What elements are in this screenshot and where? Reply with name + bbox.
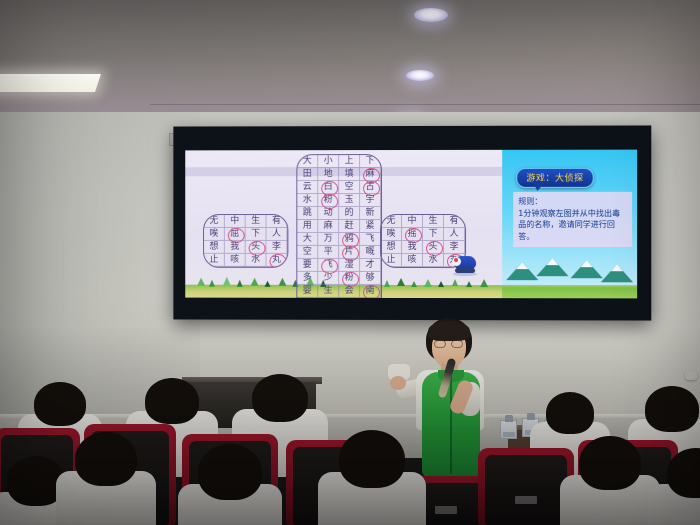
grid-cell: 无 — [381, 215, 402, 228]
grid-cell: 李 — [267, 241, 288, 254]
blue-cat-mascot-icon — [452, 254, 478, 276]
grid-cell: 想 — [204, 241, 225, 254]
mountain-2-snowcap — [546, 258, 558, 265]
grid-cell: 古 — [360, 181, 381, 194]
grid-cell: 平 — [318, 246, 339, 259]
rules-text: 1分钟观察左图并从中找出毒品的名称，邀请同学进行回答。 — [518, 208, 627, 243]
grid-cell: 生 — [246, 215, 267, 228]
grid-cell: 李 — [444, 241, 465, 254]
presenter-left-hand — [390, 376, 406, 390]
grid-cell: 紧 — [360, 220, 381, 233]
character-grid-vertical: 大小上下田地填麻云白空古水粉玉宇跳动的新用麻赶紧大万鸦飞空平片嘅要飞湿才多少粉够… — [296, 154, 382, 298]
grid-cell: 飞 — [360, 233, 381, 246]
grid-cell: 鸦 — [339, 233, 360, 246]
grid-cell: 水 — [297, 194, 318, 207]
grid-cell: 够 — [360, 272, 381, 285]
student-head — [339, 430, 405, 488]
grid-cell: 丸 — [267, 254, 288, 267]
panel-light-left-upper — [0, 74, 101, 92]
grid-cell: 麻 — [318, 220, 339, 233]
grid-cell: 地 — [318, 168, 339, 181]
grid-cell: 会 — [339, 285, 360, 298]
grid-cell: 嘅 — [360, 246, 381, 259]
grid-cell: 宇 — [360, 194, 381, 207]
slide-ground-right — [502, 287, 637, 298]
grid-cell: 水 — [423, 254, 444, 267]
grid-cell: 飞 — [318, 259, 339, 272]
grid-cell: 万 — [318, 233, 339, 246]
grid-cell: 用 — [297, 220, 318, 233]
grid-cell: 湿 — [339, 259, 360, 272]
grid-cell: 跳 — [297, 207, 318, 220]
grid-cell: 有 — [267, 215, 288, 228]
mascot-nose — [454, 258, 458, 262]
lecture-hall-photo: 无中生有唉屈下人想我头李止咳水丸 大小上下田地填麻云白空古水粉玉宇跳动的新用麻赶… — [0, 0, 700, 525]
grid-cell: 唉 — [381, 228, 402, 241]
ceiling-seam — [150, 104, 700, 105]
grid-cell: 田 — [297, 168, 318, 181]
grid-cell: 唉 — [204, 228, 225, 241]
student-head — [546, 392, 594, 434]
grid-cell: 空 — [297, 246, 318, 259]
grid-cell: 的 — [339, 207, 360, 220]
grid-cell: 人 — [267, 228, 288, 241]
grid-cell: 咳 — [225, 254, 246, 267]
student-head — [252, 374, 308, 422]
grid-cell: 小 — [318, 155, 339, 168]
grid-cell: 生 — [318, 285, 339, 298]
grid-cell: 水 — [246, 254, 267, 267]
grid-cell: 我 — [402, 241, 423, 254]
grid-cell: 生 — [423, 215, 444, 228]
mountain-3-snowcap — [581, 260, 593, 267]
grid-cell: 下 — [360, 155, 381, 168]
grid-cell: 咳 — [402, 254, 423, 267]
student-front-2 — [56, 432, 156, 525]
grid-cell: 止 — [381, 254, 402, 267]
rules-box: 规则： 1分钟观察左图并从中找出毒品的名称，邀请同学进行回答。 — [513, 192, 632, 248]
grid-cell: 大 — [297, 155, 318, 168]
grid-cell: 片 — [339, 246, 360, 259]
student-front-4 — [318, 430, 426, 525]
grid-cell: 下 — [423, 228, 444, 241]
grid-cell: 有 — [444, 215, 465, 228]
presentation-slide: 无中生有唉屈下人想我头李止咳水丸 大小上下田地填麻云白空古水粉玉宇跳动的新用麻赶… — [185, 150, 637, 299]
grid-cell: 粉 — [318, 194, 339, 207]
grid-cell: 新 — [360, 207, 381, 220]
seat-cushion — [485, 455, 567, 525]
character-grid-horizontal-left: 无中生有唉屈下人想我头李止咳水丸 — [203, 214, 288, 268]
presenter-glasses — [434, 340, 464, 348]
grid-cell: 空 — [339, 181, 360, 194]
callout-tail — [532, 181, 546, 191]
grid-cell: 下 — [246, 228, 267, 241]
student-head — [75, 432, 137, 486]
grid-cell: 想 — [381, 241, 402, 254]
grid-cell: 麻 — [360, 168, 381, 181]
grid-cell: 冰 — [318, 298, 339, 299]
mountain-4-snowcap — [611, 264, 623, 271]
student-head — [579, 436, 641, 490]
game-title-callout: 游戏：大侦探 — [516, 168, 594, 188]
grid-cell: 少 — [318, 272, 339, 285]
grid-cell: 动 — [318, 207, 339, 220]
seat-number-tag — [435, 506, 457, 514]
grid-cell: 才 — [360, 259, 381, 272]
grid-cell: 头 — [246, 241, 267, 254]
grid-cell: 你 — [339, 298, 360, 299]
student-front-3 — [178, 444, 282, 525]
grid-cell: 摇 — [402, 228, 423, 241]
grid-cell: 云 — [297, 181, 318, 194]
student-head — [145, 378, 199, 424]
grid-cell: 玉 — [339, 194, 360, 207]
grid-cell: 填 — [339, 168, 360, 181]
grid-cell: 粉 — [339, 272, 360, 285]
grid-cell: 要 — [297, 259, 318, 272]
student-front-5 — [560, 436, 660, 525]
grid-cell: 白 — [318, 181, 339, 194]
presenter-vest-zipper — [450, 376, 452, 474]
student-head — [198, 444, 262, 500]
grid-cell: 南 — [360, 285, 381, 298]
mountain-1-snowcap — [516, 262, 528, 269]
student-head — [667, 448, 700, 498]
student-head — [34, 382, 86, 426]
grid-cell: 我 — [225, 241, 246, 254]
grid-cell: 无 — [204, 215, 225, 228]
grid-cell: 住 — [297, 298, 318, 299]
grid-cell: 大 — [297, 233, 318, 246]
student-head — [645, 386, 699, 432]
projection-screen-frame: 无中生有唉屈下人想我头李止咳水丸 大小上下田地填麻云白空古水粉玉宇跳动的新用麻赶… — [173, 125, 651, 320]
student-front-6 — [648, 448, 700, 525]
seat-number-tag — [515, 496, 537, 504]
mascot-base — [455, 268, 475, 273]
downlight-2 — [406, 70, 434, 81]
grid-cell: 中 — [402, 215, 423, 228]
grid-cell: 屈 — [225, 228, 246, 241]
grid-cell: 头 — [423, 241, 444, 254]
grid-cell: 中 — [225, 215, 246, 228]
downlight-1 — [414, 8, 448, 22]
grid-cell: 多 — [297, 272, 318, 285]
grid-cell: 赶 — [339, 220, 360, 233]
grid-cell: 止 — [204, 254, 225, 267]
grid-cell: 婴 — [297, 285, 318, 298]
grid-cell: 上 — [339, 155, 360, 168]
presenter-hair-front — [428, 321, 470, 341]
rules-label: 规则： — [518, 196, 627, 208]
grid-cell: 人 — [444, 228, 465, 241]
wall-sensor — [685, 371, 697, 380]
